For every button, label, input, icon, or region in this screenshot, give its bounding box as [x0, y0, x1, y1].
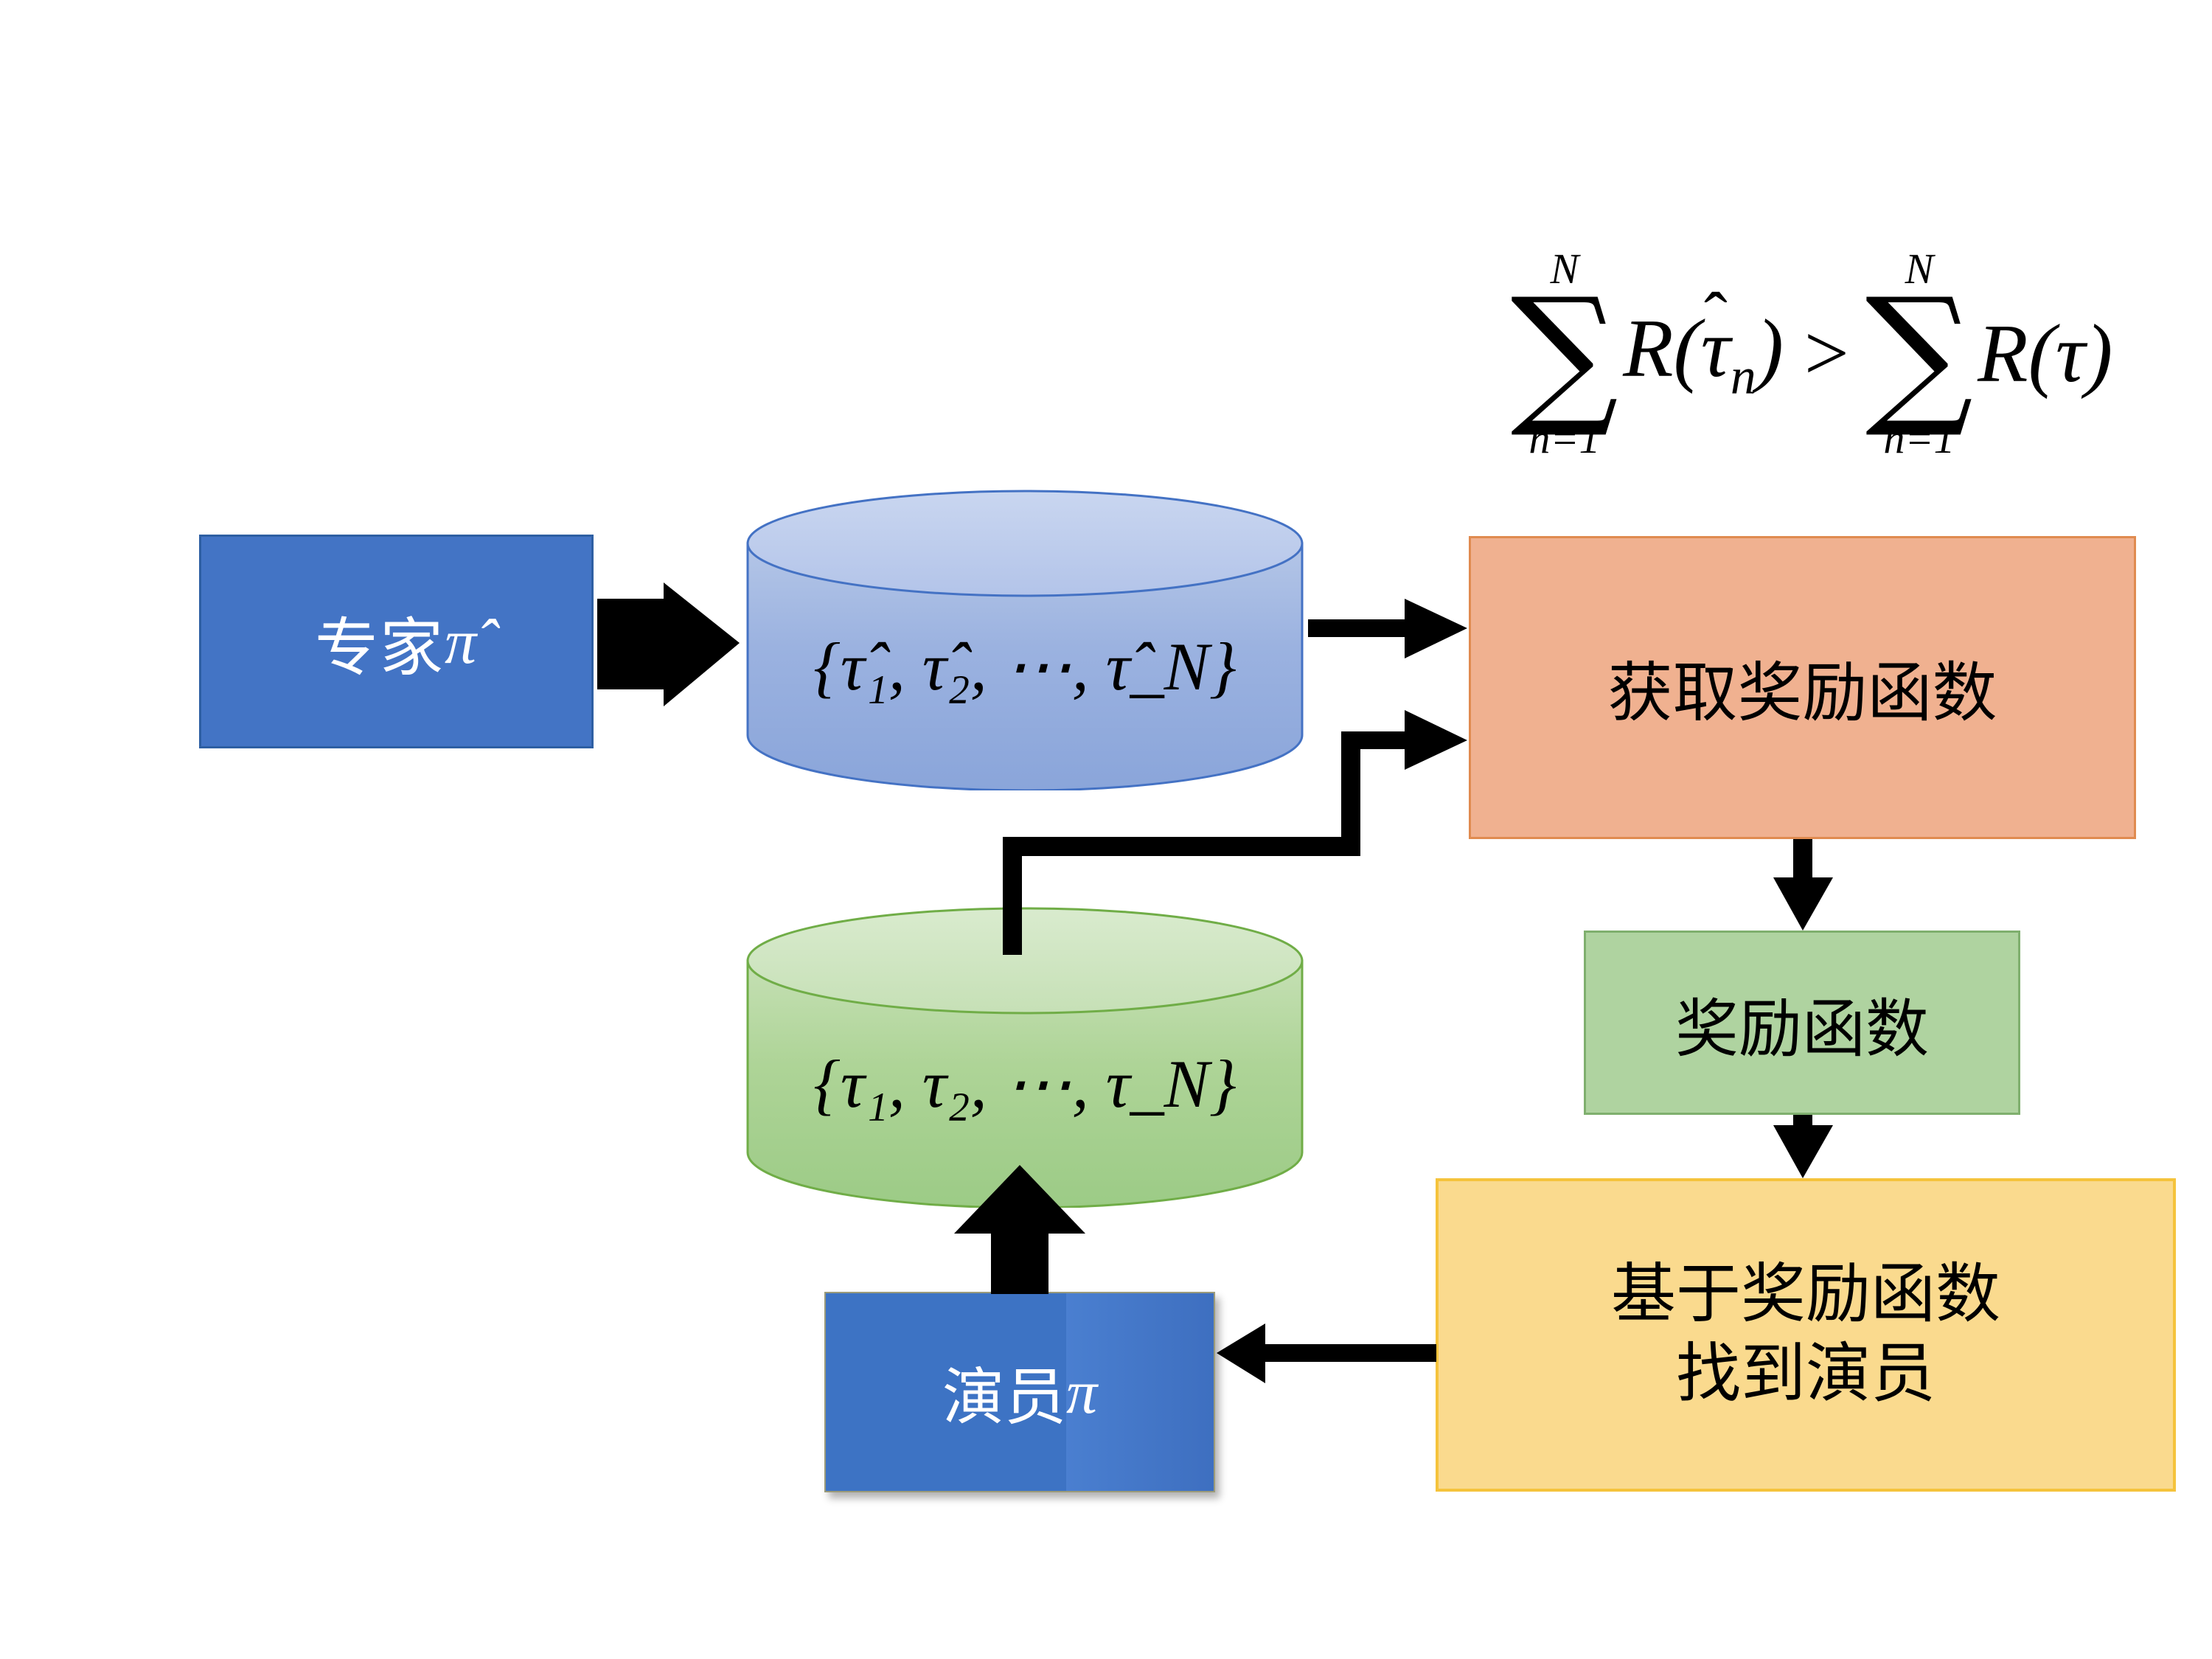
- reward-function-box[interactable]: 奖励函数: [1584, 931, 2020, 1115]
- sum-lower-limit-left: n=1: [1528, 417, 1600, 460]
- find-actor-label-line2: 找到演员: [1676, 1335, 1935, 1414]
- expert-box-symbol: π̂: [445, 605, 478, 678]
- sigma-glyph-right: ∑: [1865, 292, 1973, 416]
- tau-glyph-right: τ: [2056, 308, 2085, 400]
- obtain-reward-function-box[interactable]: 获取奖励函数: [1469, 536, 2136, 839]
- diagram-canvas: N ∑ n=1 R(̂τn) > N ∑ n=1 R(τ) 专家π̂: [0, 0, 2212, 1659]
- left-term-fn: R: [1623, 303, 1673, 394]
- expert-cylinder-shape: [745, 488, 1305, 790]
- arrow-expert-trajectories-to-obtain-reward: [1308, 599, 1467, 658]
- reward-function-label: 奖励函数: [1675, 977, 1929, 1069]
- arrow-reward-function-to-find-actor: [1773, 1115, 1833, 1178]
- actor-box[interactable]: 演员π: [824, 1292, 1215, 1492]
- arrow-obtain-reward-to-reward-function: [1773, 839, 1833, 931]
- left-term: R(̂τn): [1623, 302, 1784, 406]
- inequality-formula: N ∑ n=1 R(̂τn) > N ∑ n=1 R(τ): [1441, 214, 2186, 494]
- left-term-sub: n: [1731, 348, 1756, 405]
- find-actor-box[interactable]: 基于奖励函数 找到演员: [1436, 1178, 2176, 1492]
- tau-glyph-left: τ: [1701, 303, 1731, 394]
- actor-cylinder-shape: [745, 905, 1305, 1208]
- sigma-glyph-left: ∑: [1511, 292, 1618, 416]
- arrow-find-actor-to-actor: [1217, 1324, 1436, 1383]
- right-term: R(τ): [1978, 307, 2112, 402]
- actor-box-label: 演员: [942, 1348, 1066, 1437]
- actor-trajectory-cylinder[interactable]: {τ₁, τ₂, ⋯, τ_N}: [745, 905, 1305, 1208]
- tau-hat-left: ̂τ: [1701, 302, 1731, 397]
- arrow-expert-to-expert-trajectories: [597, 582, 740, 706]
- comparator-glyph: >: [1804, 308, 1849, 400]
- obtain-reward-function-label: 获取奖励函数: [1607, 641, 1997, 734]
- expert-box[interactable]: 专家π̂: [199, 535, 594, 748]
- right-term-fn: R: [1978, 308, 2028, 400]
- sum-lower-limit-right: n=1: [1883, 417, 1955, 460]
- actor-box-symbol: π: [1066, 1357, 1097, 1428]
- find-actor-label-line1: 基于奖励函数: [1611, 1256, 2000, 1335]
- summation-right: N ∑ n=1: [1865, 248, 1973, 460]
- summation-left: N ∑ n=1: [1511, 248, 1618, 460]
- expert-box-label: 专家: [315, 596, 445, 688]
- expert-trajectory-cylinder[interactable]: {τ̂₁, τ̂₂, ⋯, τ̂_N}: [745, 488, 1305, 790]
